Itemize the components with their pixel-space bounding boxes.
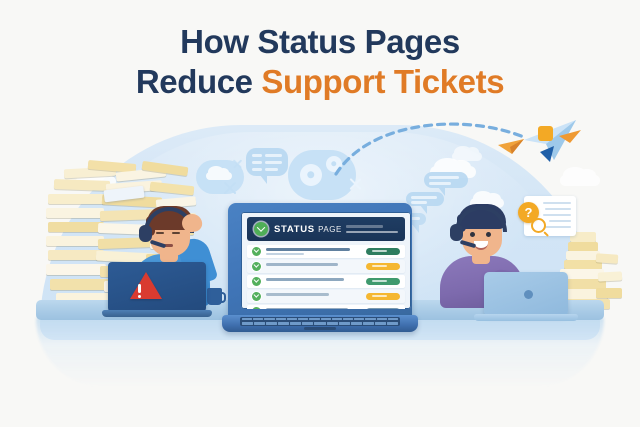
status-page-laptop: STATUS PAGE — [222, 203, 418, 335]
title-line-2-accent: Support Tickets — [261, 63, 504, 100]
table-row[interactable] — [247, 245, 405, 258]
row-text — [266, 293, 361, 299]
title-line-1: How Status Pages — [0, 22, 640, 62]
status-title-bold: STATUS — [274, 224, 315, 235]
laptop-base — [102, 310, 212, 317]
check-circle-icon — [252, 292, 261, 301]
cloud-icon — [560, 175, 600, 186]
meta-line — [346, 231, 398, 233]
status-badge — [366, 263, 400, 270]
plane-badge — [538, 126, 553, 141]
laptop-base — [474, 314, 578, 321]
laptop-base — [222, 315, 418, 332]
headset-earcup — [450, 224, 463, 241]
row-text — [266, 278, 361, 284]
right-agent-laptop — [478, 272, 574, 322]
red-warning-triangle-icon — [130, 272, 162, 299]
status-badge — [366, 293, 400, 300]
status-page-title: STATUS PAGE — [274, 224, 342, 235]
table-row[interactable] — [247, 290, 405, 303]
laptop-screen: STATUS PAGE — [241, 212, 411, 309]
meta-tiny-line — [346, 225, 383, 228]
laptop-keyboard — [240, 317, 400, 326]
page-title: How Status Pages Reduce Support Tickets — [0, 22, 640, 102]
alert-laptop — [108, 262, 206, 320]
title-line-2-plain: Reduce — [136, 63, 262, 100]
cloud-icon — [206, 172, 232, 180]
chat-bubble-icon — [246, 148, 288, 176]
laptop-logo — [524, 290, 533, 299]
warning-dot — [138, 295, 141, 298]
row-text — [266, 248, 361, 254]
status-badge — [366, 248, 400, 255]
check-circle-icon — [252, 262, 261, 271]
check-circle-icon — [252, 277, 261, 286]
status-row-list — [247, 245, 405, 309]
table-row[interactable] — [247, 275, 405, 288]
laptop-lid — [484, 272, 568, 316]
row-text — [266, 263, 361, 269]
table-row[interactable] — [247, 260, 405, 273]
paper-plane-icon — [496, 136, 526, 156]
check-circle-icon — [252, 247, 261, 256]
x-mark-icon — [348, 176, 363, 191]
row-text — [266, 308, 361, 309]
status-badge — [366, 278, 400, 285]
coffee-mug-icon — [207, 288, 222, 305]
status-badge — [366, 308, 400, 309]
status-page-meta — [346, 225, 398, 233]
check-circle-icon — [252, 307, 261, 309]
agent-eye — [470, 232, 475, 237]
warning-exclamation — [138, 284, 141, 293]
paper-plane-icon — [558, 128, 582, 144]
status-page-header: STATUS PAGE — [247, 217, 405, 241]
status-title-light: PAGE — [318, 225, 342, 234]
x-mark-icon — [222, 180, 238, 196]
x-mark-icon — [232, 158, 243, 169]
gear-icon — [300, 164, 322, 186]
illustration-canvas: How Status Pages Reduce Support Tickets — [0, 0, 640, 427]
table-row[interactable] — [247, 305, 405, 309]
green-check-circle-icon — [254, 222, 268, 236]
agent-eye — [486, 232, 491, 237]
laptop-lid: STATUS PAGE — [228, 203, 412, 319]
laptop-trackpad — [304, 327, 336, 330]
title-line-2: Reduce Support Tickets — [0, 62, 640, 102]
